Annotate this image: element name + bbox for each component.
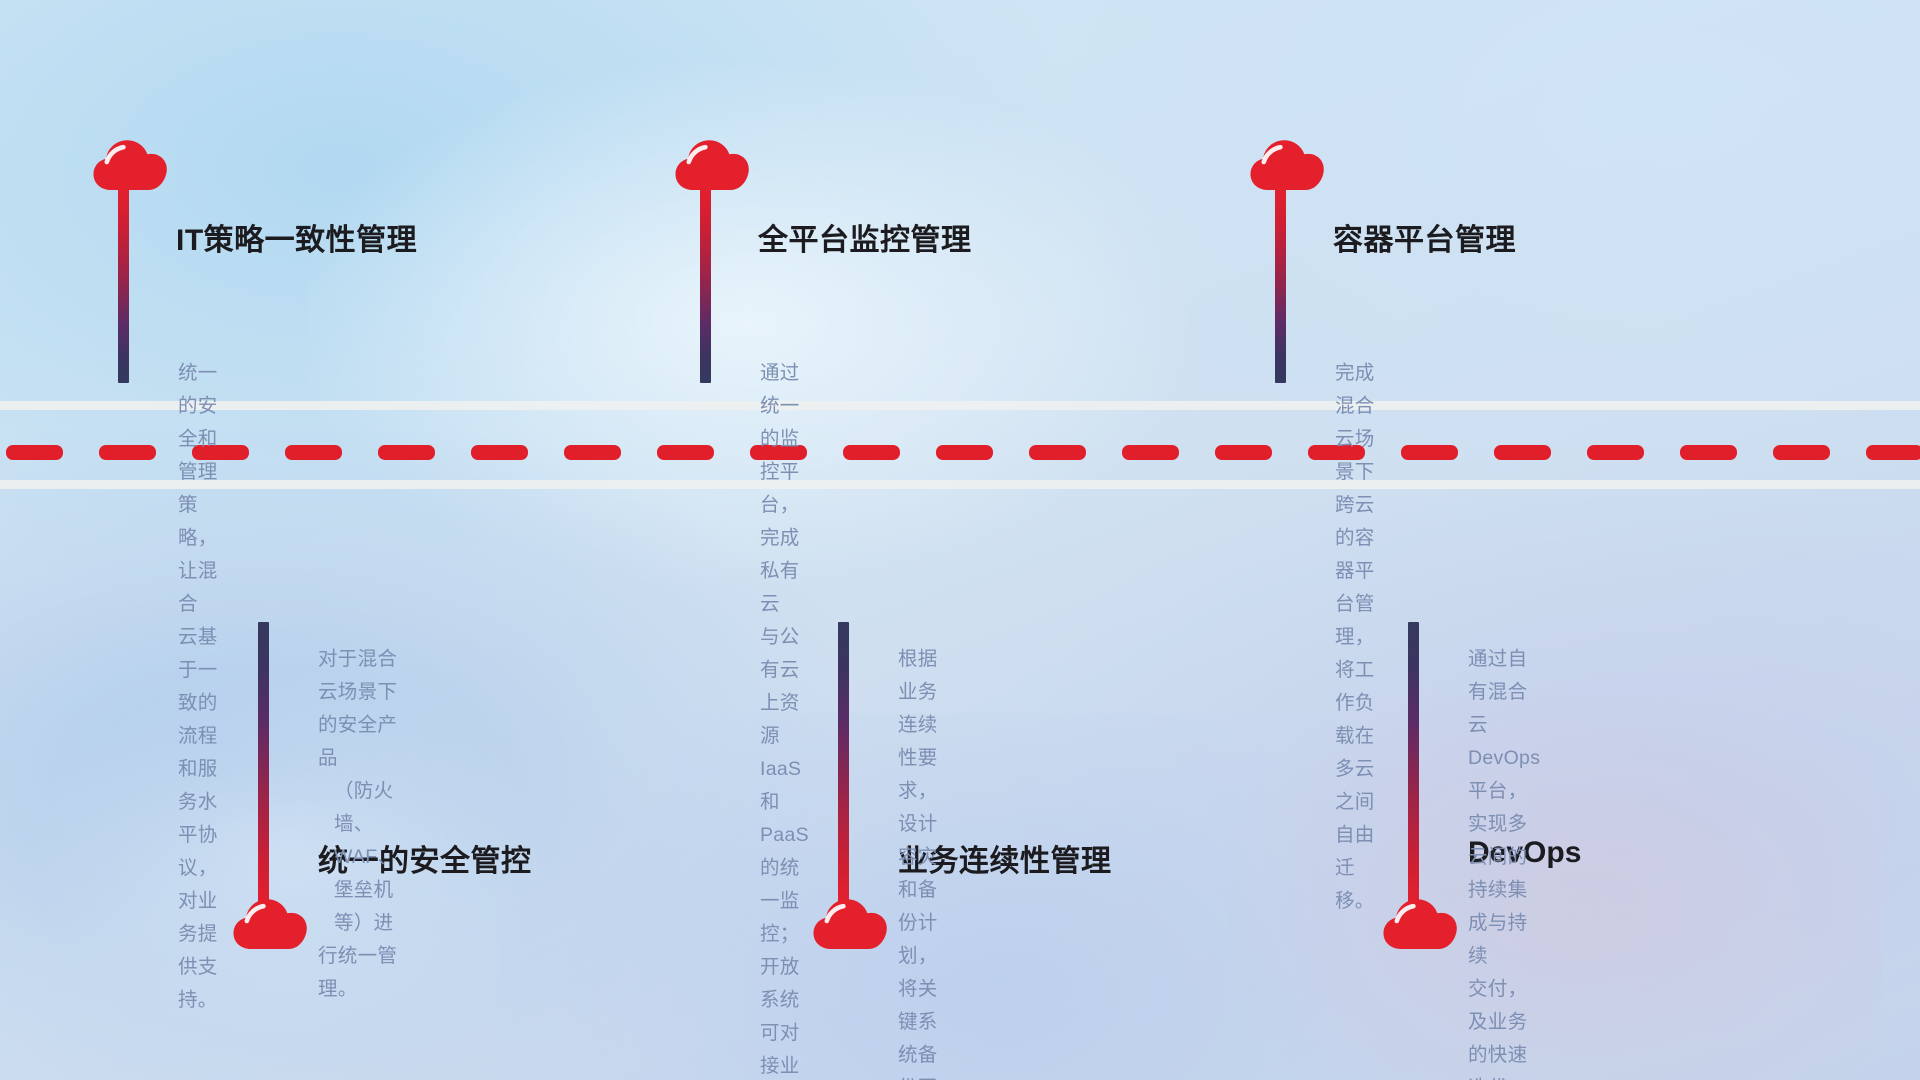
description-line: 云基于一致的流程和服务水平协	[178, 621, 218, 852]
description-line: 和备份计划，将关键系统备份至	[898, 874, 938, 1080]
description-line: 与公有云上资源IaaS和PaaS的统	[760, 621, 809, 885]
description-line: 完成混合云场景下跨云的容器平	[1335, 357, 1375, 588]
description-line: （防火墙、WAF、堡垒机等）进	[318, 775, 397, 940]
column-description-it-policy: 统一的安全和管理策略，让混合云基于一致的流程和服务水平协议，对业务提供支持。	[178, 357, 218, 1017]
description-line: 交付，及业务的快速迭代。	[1468, 973, 1540, 1080]
description-line: 根据业务连续性要求，设计容灾	[898, 643, 938, 874]
description-line: 通过统一的监控平台，完成私有云	[760, 357, 809, 621]
pin-stem-container-platform	[1275, 178, 1286, 383]
description-line: 统一的安全和管理策略，让混合	[178, 357, 218, 621]
cloud-icon	[1249, 136, 1325, 192]
pin-stem-unified-security	[258, 622, 269, 912]
column-description-platform-monitoring: 通过统一的监控平台，完成私有云与公有云上资源IaaS和PaaS的统一监控；开放系…	[760, 357, 809, 1080]
cloud-icon	[1382, 895, 1458, 951]
pin-stem-business-continuity	[838, 622, 849, 912]
pin-stem-devops	[1408, 622, 1419, 912]
column-title-container-platform: 容器平台管理	[1333, 215, 1516, 259]
cloud-icon	[674, 136, 750, 192]
cloud-icon	[92, 136, 168, 192]
column-description-container-platform: 完成混合云场景下跨云的容器平台管理，将工作负载在多云之间自由迁移。	[1335, 357, 1375, 918]
description-line: 台管理，将工作负载在多云之间	[1335, 588, 1375, 819]
description-line: 一监控；开放系统可对接业务监控。	[760, 885, 809, 1080]
column-title-platform-monitoring: 全平台监控管理	[758, 215, 972, 259]
description-line: 实现多云间的持续集成与持续	[1468, 808, 1540, 973]
column-description-unified-security: 对于混合云场景下的安全产品（防火墙、WAF、堡垒机等）进行统一管理。	[318, 643, 397, 1006]
column-description-devops: 通过自有混合云DevOps平台，实现多云间的持续集成与持续交付，及业务的快速迭代…	[1468, 643, 1540, 1080]
description-line: 行统一管理。	[318, 940, 397, 1006]
cloud-icon	[232, 895, 308, 951]
column-description-business-continuity: 根据业务连续性要求，设计容灾和备份计划，将关键系统备份至线上/线下，并定期校验和…	[898, 643, 938, 1080]
description-line: 自由迁移。	[1335, 819, 1375, 918]
description-line: 通过自有混合云DevOps平台，	[1468, 643, 1540, 808]
cloud-icon	[812, 895, 888, 951]
pin-stem-platform-monitoring	[700, 178, 711, 383]
description-line: 议，对业务提供支持。	[178, 852, 218, 1017]
column-title-it-policy: IT策略一致性管理	[176, 215, 417, 259]
pin-stem-it-policy	[118, 178, 129, 383]
description-line: 对于混合云场景下的安全产品	[318, 643, 397, 775]
